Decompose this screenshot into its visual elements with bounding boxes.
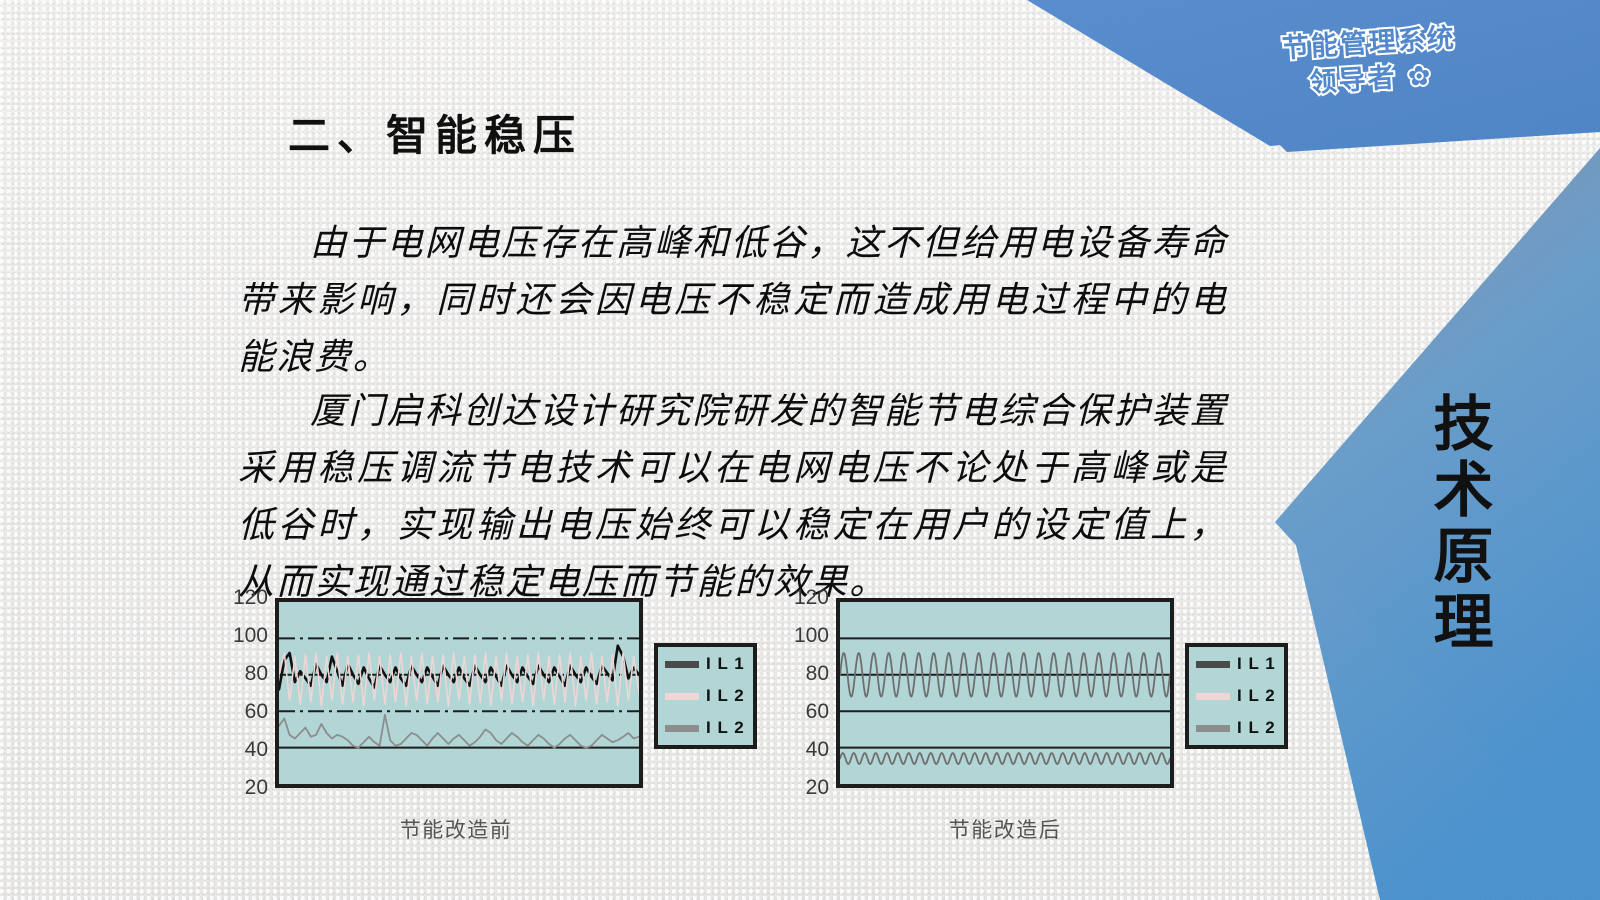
legend-swatch [665, 661, 699, 668]
series-line [279, 715, 639, 748]
legend-after: I L 1I L 2I L 2 [1185, 643, 1288, 749]
legend-swatch [1196, 661, 1230, 668]
chart-caption-after: 节能改造后 [805, 814, 1205, 844]
y-tick-label: 100 [233, 624, 268, 648]
legend-label: I L 2 [706, 686, 745, 706]
legend-label: I L 2 [1237, 718, 1276, 738]
legend-item: I L 2 [665, 686, 745, 706]
legend-item: I L 1 [1196, 654, 1276, 674]
legend-swatch [1196, 693, 1230, 700]
legend-item: I L 2 [1196, 718, 1276, 738]
side-tab-title: 技术原理 [1414, 392, 1494, 656]
chart-caption-before: 节能改造前 [246, 814, 666, 844]
body-paragraph-1: 由于电网电压存在高峰和低谷，这不但给用电设备寿命带来影响，同时还会因电压不稳定而… [238, 216, 1228, 387]
slide-canvas: 节能管理系统领导者 ✿ 技术原理 二、智能稳压 由于电网电压存在高峰和低谷，这不… [0, 0, 1600, 900]
legend-before: I L 1I L 2I L 2 [654, 643, 757, 749]
y-axis-after: 12010080604020 [785, 598, 836, 788]
body-paragraph-2: 厦门启科创达设计研究院研发的智能节电综合保护装置采用稳压调流节电技术可以在电网电… [238, 384, 1228, 612]
legend-swatch [1196, 725, 1230, 732]
legend-label: I L 2 [706, 718, 745, 738]
legend-swatch [665, 693, 699, 700]
plot-area-after [836, 598, 1174, 788]
legend-item: I L 1 [665, 654, 745, 674]
series-line [840, 753, 1170, 764]
y-tick-label: 80 [245, 662, 268, 686]
y-tick-label: 120 [233, 586, 268, 610]
series-line [279, 646, 639, 690]
legend-swatch [665, 725, 699, 732]
y-tick-label: 60 [245, 700, 268, 724]
plot-area-before [275, 598, 643, 788]
y-tick-label: 100 [794, 624, 829, 648]
legend-label: I L 2 [1237, 686, 1276, 706]
y-axis-before: 12010080604020 [224, 598, 275, 788]
y-tick-label: 120 [794, 586, 829, 610]
chart-after: 12010080604020 I L 1I L 2I L 2 节能改造后 [785, 598, 1288, 788]
page-title: 二、智能稳压 [288, 102, 582, 163]
chart-before: 12010080604020 I L 1I L 2I L 2 节能改造前 [224, 598, 757, 788]
y-tick-label: 80 [806, 662, 829, 686]
y-tick-label: 20 [806, 776, 829, 800]
legend-label: I L 1 [706, 654, 745, 674]
y-tick-label: 60 [806, 700, 829, 724]
plot-svg [840, 602, 1170, 784]
legend-item: I L 2 [665, 718, 745, 738]
y-tick-label: 40 [806, 738, 829, 762]
legend-item: I L 2 [1196, 686, 1276, 706]
y-tick-label: 40 [245, 738, 268, 762]
plot-svg [279, 602, 639, 784]
legend-label: I L 1 [1237, 654, 1276, 674]
y-tick-label: 20 [245, 776, 268, 800]
